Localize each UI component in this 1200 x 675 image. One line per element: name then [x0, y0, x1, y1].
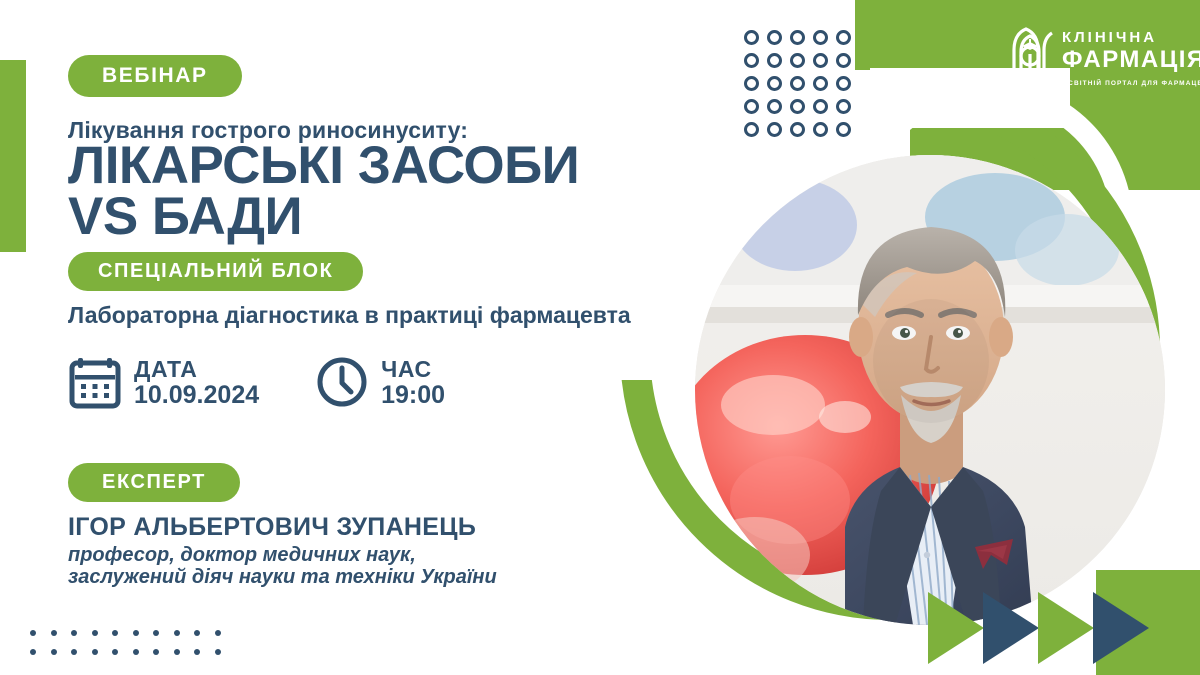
webinar-banner: ВЕБІНАР Лікування гострого риносинуситу:… — [0, 0, 1200, 675]
expert-role-line-1: професор, доктор медичних наук, — [68, 544, 497, 566]
solid-dot — [30, 649, 36, 655]
meta-date: ДАТА 10.09.2024 — [68, 355, 259, 409]
ring-dot — [790, 122, 805, 137]
meta-date-value: 10.09.2024 — [134, 381, 259, 409]
arrow-navy — [1093, 592, 1149, 664]
badge-special-block: СПЕЦІАЛЬНИЙ БЛОК — [68, 252, 363, 291]
arrow-green — [928, 592, 984, 664]
ring-dot — [790, 76, 805, 91]
title-line-1: ЛІКАРСЬКІ ЗАСОБИ — [68, 140, 579, 191]
ring-dot — [767, 122, 782, 137]
arrow-decoration-group — [928, 592, 1188, 664]
expert-role-line-2: заслужений діяч науки та техніки України — [68, 566, 497, 588]
ring-dot — [744, 122, 759, 137]
ring-dot — [790, 99, 805, 114]
title-line-2: VS БАДИ — [68, 191, 579, 242]
left-green-bar — [0, 60, 26, 252]
solid-dot — [51, 649, 57, 655]
meta-date-label: ДАТА — [134, 356, 197, 382]
brand-line-2: ФАРМАЦІЯ — [1062, 46, 1200, 73]
ring-dot — [744, 76, 759, 91]
arrow-navy — [983, 592, 1039, 664]
ring-dot — [836, 122, 851, 137]
ring-dot — [813, 30, 828, 45]
page-title: ЛІКАРСЬКІ ЗАСОБИ VS БАДИ — [68, 140, 579, 243]
meta-time-text: ЧАС 19:00 — [381, 355, 445, 409]
ring-dot — [767, 99, 782, 114]
event-meta: ДАТА 10.09.2024 ЧАС 19:00 — [68, 355, 445, 409]
content-column: ВЕБІНАР Лікування гострого риносинуситу:… — [68, 0, 708, 675]
expert-role: професор, доктор медичних наук, заслужен… — [68, 544, 497, 589]
ring-dot — [790, 53, 805, 68]
brand-line-1: КЛІНІЧНА — [1062, 29, 1157, 46]
ring-dot — [836, 53, 851, 68]
ring-dot — [767, 53, 782, 68]
ring-dot — [767, 30, 782, 45]
subtitle: Лабораторна діагностика в практиці фарма… — [68, 302, 631, 329]
ring-dot — [836, 76, 851, 91]
solid-dot — [51, 630, 57, 636]
ring-dot — [790, 30, 805, 45]
solid-dot — [30, 630, 36, 636]
meta-date-text: ДАТА 10.09.2024 — [134, 355, 259, 409]
meta-time: ЧАС 19:00 — [315, 355, 445, 409]
speaker-photo — [695, 155, 1165, 625]
brand-logo-text: КЛІНІЧНА ФАРМАЦІЯ ОСВІТНІЙ ПОРТАЛ ДЛЯ ФА… — [1062, 24, 1200, 90]
ring-dot-grid — [744, 30, 844, 130]
ring-dot — [767, 76, 782, 91]
ring-dot — [744, 99, 759, 114]
clock-icon — [315, 355, 369, 409]
brand-tagline: ОСВІТНІЙ ПОРТАЛ ДЛЯ ФАРМАЦЕВТІВ — [1062, 80, 1200, 87]
ring-dot — [813, 76, 828, 91]
ring-dot — [744, 30, 759, 45]
arrow-green — [1038, 592, 1094, 664]
brand-logo[interactable]: КЛІНІЧНА ФАРМАЦІЯ ОСВІТНІЙ ПОРТАЛ ДЛЯ ФА… — [1006, 24, 1178, 96]
badge-expert: ЕКСПЕРТ — [68, 463, 240, 502]
ring-dot — [744, 53, 759, 68]
ring-dot — [813, 53, 828, 68]
ring-dot — [813, 122, 828, 137]
calendar-icon — [68, 355, 122, 409]
pharmacy-arch-emblem-icon — [1006, 24, 1056, 86]
meta-time-label: ЧАС — [381, 356, 432, 382]
meta-time-value: 19:00 — [381, 381, 445, 409]
ring-dot — [836, 99, 851, 114]
expert-name: ІГОР АЛЬБЕРТОВИЧ ЗУПАНЕЦЬ — [68, 513, 476, 542]
ring-dot — [836, 30, 851, 45]
badge-webinar: ВЕБІНАР — [68, 55, 242, 97]
ring-dot — [813, 99, 828, 114]
